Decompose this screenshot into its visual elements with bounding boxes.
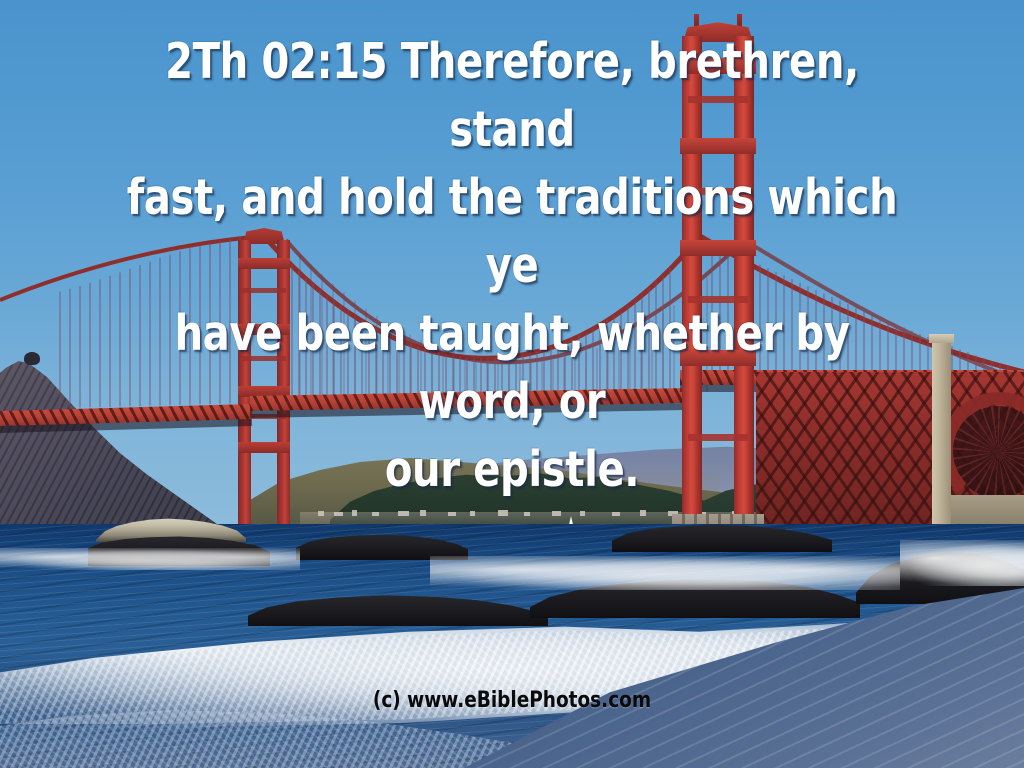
near-tower-beam-4 <box>680 350 756 366</box>
far-tower-strut-2 <box>242 356 286 361</box>
far-tower-beam-2 <box>238 324 290 335</box>
scripture-photo: 2Th 02:15 Therefore, brethren, stand fas… <box>0 0 1024 768</box>
concrete-pylon <box>932 340 951 540</box>
near-tower-beam-3 <box>680 240 756 256</box>
far-tower-beam-4 <box>238 442 290 453</box>
concrete-pylon-cap <box>929 334 954 343</box>
near-tower-beam-1 <box>680 58 756 74</box>
surf-foam-far-right <box>900 540 1024 586</box>
surf-foam-upper-left <box>0 548 300 570</box>
bridge-far-tower <box>238 228 290 538</box>
near-tower-beam-2 <box>680 138 756 154</box>
near-tower-strut-2 <box>688 188 748 195</box>
near-tower-leg-left <box>682 36 702 532</box>
near-tower-strut-4 <box>688 434 748 441</box>
near-tower-strut-3 <box>688 296 748 303</box>
near-tower-leg-right <box>734 36 754 532</box>
far-tower-beam-1 <box>238 258 290 269</box>
surf-foam-upper-right <box>430 556 900 590</box>
far-tower-strut-1 <box>242 288 286 293</box>
bridge-near-tower <box>680 14 756 534</box>
near-tower-strut-1 <box>688 96 748 103</box>
